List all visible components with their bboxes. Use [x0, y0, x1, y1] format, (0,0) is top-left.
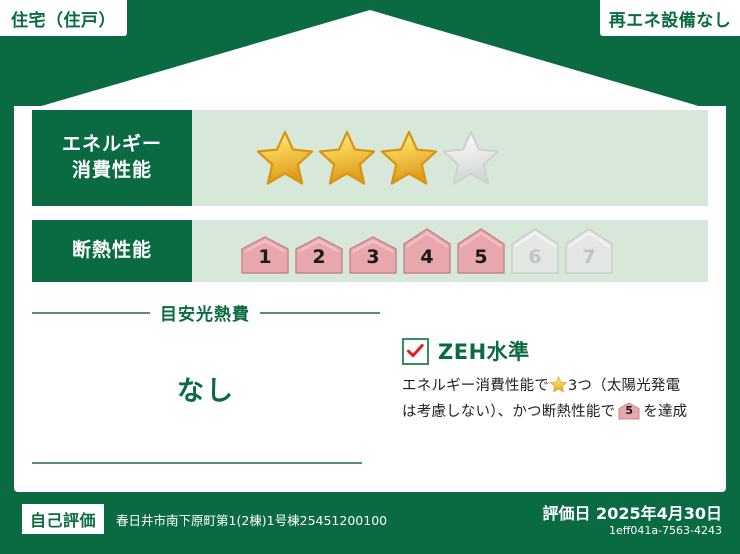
zeh-desc-stars: 3つ（太陽光発電 [568, 378, 680, 394]
star-filled-icon [380, 129, 438, 187]
evaluation-date: 評価日 2025年4月30日 [542, 500, 722, 524]
label-footer: 自己評価 春日井市南下原町第1(2棟)1号棟25451200100 評価日 20… [0, 492, 740, 554]
insulation-level-number: 3 [348, 246, 398, 268]
insulation-level-3: 3 [348, 236, 398, 274]
tag-renewable-equipment: 再エネ設備なし [600, 0, 740, 36]
label-subtitle: 建築物省エネ法に基づく [0, 34, 740, 58]
insulation-scale-wrap: 1234567 [192, 220, 708, 282]
energy-label-line1: エネルギー [62, 132, 162, 158]
zeh-desc-part1: エネルギー消費性能で [402, 378, 549, 394]
zeh-desc-part2: は考慮しない）、かつ断熱性能で [402, 404, 615, 420]
self-evaluation-badge: 自己評価 [22, 504, 104, 534]
energy-performance-label: エネルギー 消費性能 [32, 110, 192, 206]
insulation-level-6: 6 [510, 228, 560, 274]
insulation-level-number: 7 [564, 246, 614, 268]
lower-section: 目安光熱費 なし ZEH水準 エネルギー消費性能で [32, 296, 708, 486]
insulation-performance-row: 断熱性能 1234567 [32, 220, 708, 282]
star-empty-icon [442, 129, 500, 187]
property-address: 春日井市南下原町第1(2棟)1号棟25451200100 [116, 510, 387, 529]
insulation-level-4: 4 [402, 228, 452, 274]
insulation-label-text: 断熱性能 [72, 238, 152, 264]
star-rating [192, 110, 708, 206]
energy-label-line2: 消費性能 [72, 158, 152, 184]
insulation-level-number: 6 [510, 246, 560, 268]
star-filled-icon [256, 129, 314, 187]
insulation-performance-label: 断熱性能 [32, 220, 192, 282]
star-filled-icon [318, 129, 376, 187]
tag-building-type: 住宅（住戸） [0, 0, 127, 36]
serial-number: 1eff041a-7563-4243 [609, 524, 722, 537]
insulation-level-5: 5 [456, 228, 506, 274]
label-title-block: 建築物省エネ法に基づく 省エネ性能ラベル [0, 34, 740, 99]
insulation-level-number: 1 [240, 246, 290, 268]
utility-cost-bottom-rule [32, 462, 362, 464]
page-title: 省エネ性能ラベル [0, 60, 740, 99]
energy-performance-row: エネルギー 消費性能 [32, 110, 708, 206]
zeh-description: エネルギー消費性能で 3つ（太陽光発電 は考慮しない）、かつ断熱性能で [402, 375, 708, 425]
utility-cost-value: なし [32, 369, 380, 408]
insulation-level-number: 4 [402, 246, 452, 268]
utility-cost-heading-row: 目安光熱費 [32, 296, 380, 325]
insulation-level-number: 2 [294, 246, 344, 268]
zeh-title: ZEH水準 [438, 336, 530, 366]
insulation-level-2: 2 [294, 236, 344, 274]
heading-rule-left [32, 312, 150, 314]
inline-star-icon [550, 376, 567, 401]
heading-rule-right [260, 312, 380, 314]
insulation-level-7: 7 [564, 228, 614, 274]
insulation-scale: 1234567 [240, 228, 618, 274]
performance-block: エネルギー 消費性能 断熱性能 1234567 [32, 110, 708, 296]
inline-house-number: 5 [618, 402, 640, 420]
zeh-desc-part3: を達成 [643, 404, 687, 420]
check-icon [407, 344, 424, 358]
zeh-panel: ZEH水準 エネルギー消費性能で 3つ（太陽光発電 は考慮 [392, 296, 708, 486]
zeh-title-row: ZEH水準 [402, 336, 708, 366]
inline-house-badge: 5 [618, 402, 640, 420]
energy-performance-label: 住宅（住戸） 再エネ設備なし 建築物省エネ法に基づく 省エネ性能ラベル エネルギ… [0, 0, 740, 554]
insulation-level-1: 1 [240, 236, 290, 274]
insulation-level-number: 5 [456, 246, 506, 268]
zeh-checkbox[interactable] [402, 338, 429, 365]
utility-cost-panel: 目安光熱費 なし [32, 296, 392, 486]
utility-cost-heading: 目安光熱費 [160, 300, 250, 325]
